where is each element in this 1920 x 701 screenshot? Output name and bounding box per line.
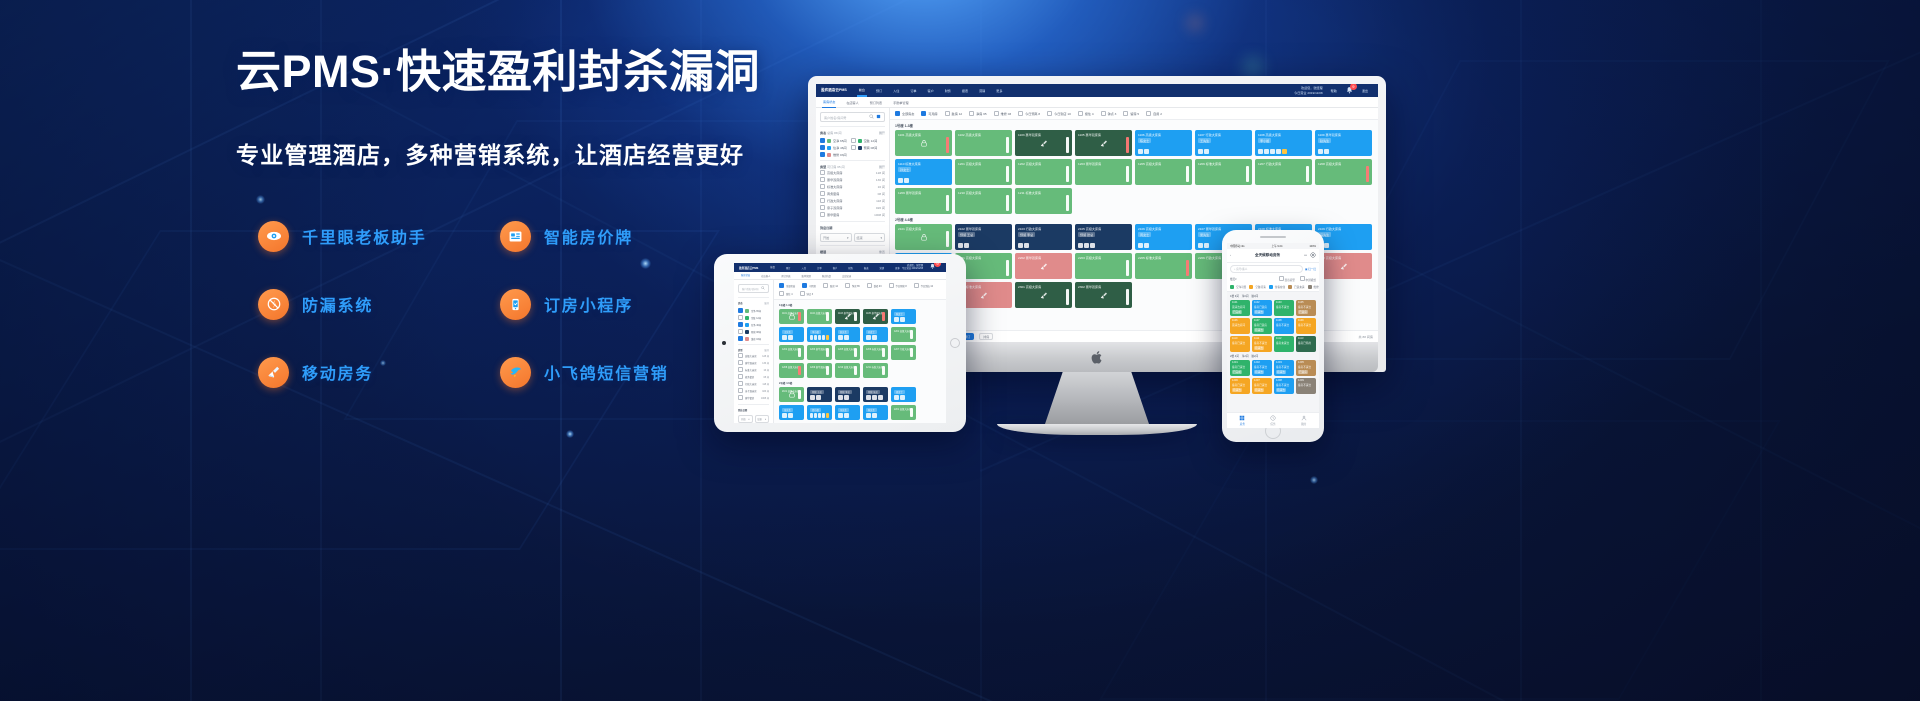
nav-item-reports[interactable]: 报表 (960, 85, 970, 96)
badge-icon (1258, 149, 1263, 154)
alert-badge-icon (826, 335, 829, 340)
room-card[interactable]: 1108 高级大床房李小姐 (807, 327, 832, 342)
nav-item-finance[interactable]: 财务 (943, 85, 953, 96)
checkbox[interactable] (945, 111, 950, 116)
list-item[interactable]: 高级大床房128 间 (820, 169, 885, 176)
room-number: 1109 (1298, 319, 1314, 322)
nav-item-customers[interactable]: 客户 (926, 85, 936, 96)
checkbox[interactable] (800, 291, 805, 296)
feature-item-eye[interactable]: 千里眼老板助手 (258, 221, 500, 252)
room-card[interactable]: 1105客房不清洁已退房 (1296, 300, 1316, 316)
room-number: 1203 (1276, 361, 1292, 364)
color-swatch (1230, 285, 1234, 289)
checkbox[interactable] (969, 111, 974, 116)
tab-housekeeping[interactable]: 房务 (1227, 413, 1258, 428)
page-title: 全天候移动房务 (1234, 253, 1301, 258)
badge-icon (822, 413, 825, 418)
room-card[interactable]: 1101 高级大床房 (895, 130, 952, 156)
room-card[interactable]: 1101需清洁房间已完成 (1230, 300, 1250, 316)
room-badges (782, 335, 801, 340)
occupancy-bar (826, 312, 829, 321)
room-card[interactable]: 1111客房不清洁待清洁 (1252, 336, 1272, 352)
checkbox[interactable] (1123, 111, 1128, 116)
room-card[interactable]: 1209客房不清洁 (1296, 378, 1316, 394)
room-card[interactable]: 2101 高级大床房 (779, 387, 804, 402)
room-card[interactable]: 1109 豪华双床房赵先生 (835, 327, 860, 342)
room-card[interactable]: 2106 高级大床房周女士 (891, 387, 916, 402)
checkbox[interactable] (820, 170, 825, 175)
feature-item-price-board[interactable]: 智能房价牌 (500, 221, 633, 252)
room-groups: 1楼 3间净0间脏3间1101需清洁房间已完成1102客房已退房待清洁1103客… (1227, 292, 1319, 394)
filter-chip[interactable]: 今日预离 8 (1018, 111, 1040, 116)
ellipsis-icon[interactable]: ••• (1304, 254, 1307, 257)
nav-item-checkin[interactable]: 入住 (891, 85, 901, 96)
room-card[interactable]: 1205 高级大床房 (1135, 159, 1192, 185)
room-card[interactable]: 1107 行政大床房王先生 (779, 327, 804, 342)
date-to-input[interactable]: 结束▾ (854, 233, 886, 242)
badge-icon (844, 395, 849, 400)
room-card[interactable]: 1211 标准大床房 (1015, 188, 1072, 214)
badge-icon (1090, 243, 1095, 248)
broom-icon (1099, 291, 1108, 301)
room-card[interactable]: 2205 标准大床房 (1135, 253, 1192, 279)
filter-chip[interactable]: 今日到店 10 (1047, 111, 1071, 116)
date-to-input[interactable]: 结束▾ (755, 415, 770, 423)
feature-item-mobile-booking[interactable]: 订房小程序 (500, 289, 633, 320)
clock-label: 上午 9:24 (1271, 244, 1282, 248)
room-number: 2106 高级大床房 (1138, 226, 1189, 231)
checkbox[interactable] (1018, 111, 1023, 116)
tab-tasks[interactable]: 任务 (1258, 413, 1289, 428)
user-info[interactable]: 欢迎您，张经理 今日营业 2019/11/08 (902, 265, 923, 271)
pms-nav-right: 欢迎您，张经理 今日营业 2019/11/08 9 (902, 263, 941, 272)
footer-status: 共 88 间房 (1359, 334, 1373, 339)
room-card[interactable]: 2102 豪华双床房预留 王总 (807, 387, 832, 402)
badge-icon (866, 413, 871, 418)
occupancy-bar (1126, 137, 1129, 153)
room-card[interactable]: 1108客房不清洁 (1274, 318, 1294, 334)
room-number: 1210 高级大床房 (958, 190, 1009, 195)
room-card[interactable]: 1202客房不清洁待清洁 (1252, 360, 1272, 376)
room-card[interactable]: 2105 高级大床房预留 张总 (1075, 224, 1132, 250)
room-tag: 待清洁 (1232, 388, 1242, 392)
filter-chip[interactable]: 钟点 3 (800, 291, 814, 296)
room-card[interactable]: 2107 豪华双床房吴先生 (779, 405, 804, 420)
filter-chip[interactable]: 全部房态 (895, 111, 914, 116)
badge-icon (1078, 243, 1083, 248)
room-card[interactable]: 1201客房已清洁已完成 (1230, 360, 1250, 376)
badge-icon (810, 395, 815, 400)
room-card[interactable]: 1209 豪华双床房 (807, 363, 832, 378)
room-card[interactable]: 2203 高级大床房 (1075, 253, 1132, 279)
room-card[interactable]: 1112客房未清洁 (1274, 336, 1294, 352)
filter-chip[interactable]: 今日到店 10 (914, 283, 933, 288)
room-number: 2105 高级大床房 (1078, 226, 1129, 231)
badge-icon (818, 335, 821, 340)
bell-icon[interactable]: 9 (929, 263, 938, 272)
mobile-booking-icon (500, 289, 531, 320)
room-number: 1202 高级大床房 (1018, 161, 1069, 166)
mobile-housekeeping-app: 中国移动 4G 上午 9:24 100% ‹ 全天候移动房务 ••• (1227, 243, 1319, 428)
scan-button[interactable]: ▣ 扫一扫 (1305, 267, 1316, 271)
guest-name: 孙女士 (866, 330, 885, 334)
filter-chip[interactable]: 今日预离 8 (889, 283, 907, 288)
room-card[interactable]: 2201 高级大床房 (891, 405, 916, 420)
legend-label: 住客在住 (1275, 285, 1285, 289)
checkbox[interactable] (820, 177, 825, 182)
filter-label: 续住 4 (1085, 111, 1094, 116)
checkbox[interactable] (1047, 111, 1052, 116)
room-status-text: 客房不清洁 (1276, 323, 1292, 327)
bell-icon[interactable]: 9 (1345, 86, 1354, 95)
feature-row: 移动房务 小飞鸽短信营销 (258, 338, 778, 406)
legend-label: 空净可售 (1236, 285, 1246, 289)
room-card[interactable]: 2105 高级大床房预留 张总 (863, 387, 888, 402)
filter-label: 今日到店 10 (921, 284, 933, 288)
pms-main-menu: 前台 预订 入住 订单 客户 财务 报表 营销 更多 (857, 84, 1005, 97)
assign-room-button[interactable]: 排房 (979, 333, 993, 340)
room-card[interactable]: 1102 高级大床房 (807, 309, 832, 324)
filter-chip[interactable]: 全部房态 (779, 283, 795, 288)
filter-chip[interactable]: 维修 03 (867, 283, 882, 288)
tab[interactable]: 客史档案 (821, 271, 832, 281)
room-card[interactable]: 1101 高级大床房 (779, 309, 804, 324)
room-card[interactable]: 1110 标准大床房孙女士 (895, 159, 952, 185)
tab[interactable]: 预订列表 (780, 271, 791, 281)
broom-icon (843, 312, 852, 322)
badge-icon (1204, 243, 1209, 248)
room-badges (810, 413, 829, 418)
pms-sub-tabs: 客房状态 在店客人 预订列表 手账单管理 (816, 97, 1378, 108)
guest-name: 赵先生 (838, 330, 857, 334)
occupancy-bar (1066, 195, 1069, 211)
room-card[interactable]: 1102 高级大床房 (955, 130, 1012, 156)
room-badges (1198, 149, 1249, 154)
status-more-button[interactable]: 展开 (879, 130, 885, 135)
chevron-left-icon[interactable]: ‹ (1230, 254, 1231, 257)
roomtype-label: 豪华套房 (827, 212, 839, 217)
anti-leak-icon (258, 289, 289, 320)
checkbox[interactable] (867, 283, 872, 288)
room-card[interactable]: 1207 行政大床房 (891, 345, 916, 360)
room-card[interactable]: 1113客房已停用 (1296, 336, 1316, 352)
checkbox[interactable] (889, 283, 894, 288)
filter-chip[interactable]: 钟点 3 (1101, 111, 1117, 116)
room-card[interactable]: 1201 高级大床房 (891, 327, 916, 342)
room-card[interactable]: 2302 豪华双床房 (1075, 282, 1132, 308)
checkbox[interactable] (1101, 111, 1106, 116)
feature-item-housekeeping[interactable]: 移动房务 (258, 357, 500, 388)
filter-chip[interactable]: 自用 2 (1146, 111, 1162, 116)
nav-item-more[interactable]: 更多 (994, 85, 1004, 96)
room-card[interactable]: 1106 高级大床房陈女士 (1135, 130, 1192, 156)
checkbox[interactable] (1078, 111, 1083, 116)
pms-nav-right: 欢迎您，张经理 今日营业 2019/11/08 帮助 9 退出 (1294, 85, 1373, 96)
room-card[interactable]: 1203 豪华双床房 (1075, 159, 1132, 185)
ipad-home-button[interactable] (950, 338, 960, 348)
legend-label: 维修停用 (1314, 285, 1320, 289)
room-status-text: 客房不清洁 (1298, 305, 1314, 309)
checkbox[interactable] (994, 111, 999, 116)
badge-icon (1324, 149, 1329, 154)
room-card[interactable]: 1203客房不清洁待清洁 (1274, 360, 1294, 376)
room-number: 1207 (1254, 379, 1270, 382)
room-card[interactable]: 2108 标准大床房郑小姐 (807, 405, 832, 420)
chevron-down-icon: ▾ (765, 418, 766, 421)
room-card[interactable]: 1109客房不清洁 (1296, 318, 1316, 334)
lock-icon (788, 391, 796, 400)
room-grid: 1201客房已清洁已完成1202客房不清洁待清洁1203客房不清洁待清洁1205… (1227, 360, 1319, 394)
user-greeting: 欢迎您，张经理 (907, 265, 923, 267)
room-card[interactable]: 1205 高级大床房 (835, 345, 860, 360)
roomtype-more-button[interactable]: 展开 (879, 164, 885, 169)
room-groups: 1号楼 1-3楼1101 高级大床房1102 高级大床房1103 豪华双床房11… (774, 300, 946, 423)
badge-icon (782, 413, 787, 418)
nav-item-orders[interactable]: 订单 (908, 85, 918, 96)
checkbox[interactable] (779, 291, 784, 296)
list-item[interactable]: 亲子双床房026 间 (820, 204, 885, 211)
room-card[interactable]: 1110 标准大床房孙女士 (863, 327, 888, 342)
room-card[interactable]: 1210 高级大床房 (835, 363, 860, 378)
room-status-text: 客房不清洁 (1254, 365, 1270, 369)
room-card[interactable]: 1105 豪华双床房 (863, 309, 888, 324)
checkbox[interactable] (823, 283, 828, 288)
room-status-text: 客房已清洁 (1232, 365, 1248, 369)
checkbox[interactable] (820, 191, 825, 196)
feature-item-sms[interactable]: 小飞鸽短信营销 (500, 357, 669, 388)
filter-icon[interactable] (876, 114, 881, 120)
user-info[interactable]: 欢迎您，张经理 今日营业 2019/11/08 (1294, 86, 1323, 94)
room-tag: 已完成 (1232, 370, 1242, 374)
alert-badge-icon (826, 413, 829, 418)
pms-main-panel: 全部房态可用房脏房 12净房 65维修 03今日预离 8今日到店 10续住 4钟… (774, 280, 946, 423)
badge-icon (898, 178, 903, 183)
room-card[interactable]: 1109 豪华双床房赵先生 (1315, 130, 1372, 156)
badge-icon (866, 335, 871, 340)
room-status-text: 客房已清洁 (1232, 341, 1248, 345)
tab-bill-manage[interactable]: 手账单管理 (892, 97, 909, 108)
badge-icon (814, 413, 817, 418)
roomtype-count: 118 间 (876, 198, 885, 203)
date-range: 开始▾ 结束▾ (820, 233, 885, 242)
room-card[interactable]: 2301 高级大床房 (1015, 282, 1072, 308)
room-card[interactable]: 1106需清洁房间 (1230, 318, 1250, 334)
room-card[interactable]: 1205客房不清洁已退房 (1296, 360, 1316, 376)
filter-label: 净房 65 (852, 284, 860, 288)
gear-icon[interactable] (1310, 252, 1316, 259)
room-card[interactable]: 1102客房已退房待清洁 (1252, 300, 1272, 316)
checkbox[interactable] (779, 283, 784, 288)
filter-chip[interactable]: 可用房 (921, 111, 937, 116)
floor-filter[interactable]: 楼层▾ (1230, 277, 1237, 281)
room-card[interactable]: 2106 高级大床房周女士 (1135, 224, 1192, 250)
roomtype-label: 行政大床房 (827, 198, 842, 203)
broom-icon (1039, 291, 1048, 301)
guest-name: 冯先生 (838, 408, 857, 412)
room-card[interactable]: 1106 高级大床房陈女士 (891, 309, 916, 324)
show-roomtype-toggle[interactable]: 显示房型 (1279, 276, 1295, 282)
room-number: 1209 豪华双床房 (898, 190, 949, 195)
badge-icon (788, 335, 793, 340)
room-grid: 2101 高级大床房2102 豪华双床房预留 王总2103 行政大床房预留 李总… (774, 387, 946, 423)
feature-row: 防漏系统 订房小程序 (258, 270, 778, 338)
checkbox[interactable] (914, 283, 919, 288)
room-card[interactable]: 1208 高级大床房 (1315, 159, 1372, 185)
room-card[interactable]: 2103 行政大床房预留 李总 (835, 387, 860, 402)
room-number: 1102 高级大床房 (958, 132, 1009, 137)
room-tag: 已退房 (1298, 370, 1308, 374)
room-card[interactable]: 2102 豪华双床房预留 王总 (955, 224, 1012, 250)
filter-chip[interactable]: 净房 65 (969, 111, 987, 116)
roomtype-count: 128 间 (876, 170, 885, 175)
tab[interactable]: 账单管理 (801, 271, 812, 281)
checkbox[interactable] (845, 283, 850, 288)
color-swatch (1288, 285, 1292, 289)
room-card[interactable]: 1110客房已清洁 (1230, 336, 1250, 352)
date-from-input[interactable]: 开始▾ (738, 415, 753, 423)
room-card[interactable]: 1108 高级大床房李小姐 (1255, 130, 1312, 156)
lock-icon (788, 313, 796, 322)
filter-label: 今日预离 8 (1025, 111, 1040, 116)
room-card[interactable]: 2103 行政大床房预留 李总 (1015, 224, 1072, 250)
checkbox[interactable] (895, 111, 900, 116)
room-badges (810, 335, 829, 340)
room-card[interactable]: 2110 高级大床房陈先生 (863, 405, 888, 420)
room-card[interactable]: 1206 标准大床房 (1195, 159, 1252, 185)
legend-label: 已退未清 (1294, 285, 1304, 289)
feature-label: 移动房务 (302, 360, 373, 384)
room-card[interactable]: 1105 豪华双床房 (1075, 130, 1132, 156)
room-badges (894, 317, 913, 322)
room-card[interactable]: 2202 豪华双床房 (1015, 253, 1072, 279)
room-card[interactable]: 1207客房已清洁待清洁 (1252, 378, 1272, 394)
filter-label: 可用房 (928, 111, 937, 116)
room-number: 1205 (1298, 361, 1314, 364)
occupancy-bar (1306, 166, 1309, 182)
broom-icon (979, 291, 988, 301)
list-item[interactable]: 商务套房08 间 (820, 190, 885, 197)
filter-chip[interactable]: 维修 03 (994, 111, 1012, 116)
clock-icon (1270, 415, 1276, 421)
room-card[interactable]: 1103 豪华双床房 (835, 309, 860, 324)
tab-profile[interactable]: 我的 (1288, 413, 1319, 428)
room-tag: 已完成 (1232, 310, 1242, 314)
checkbox[interactable] (802, 283, 807, 288)
roomtype-count: 16 间 (878, 184, 885, 189)
checkbox[interactable] (921, 111, 926, 116)
legend-label: 空脏待清 (1255, 285, 1265, 289)
search-input[interactable]: ⌕ 房号/客人 (1230, 265, 1303, 273)
room-group-title: 2楼 4间净2间脏2间 (1227, 352, 1319, 360)
room-card[interactable]: 1206客房已清洁待清洁 (1230, 378, 1250, 394)
occupancy-bar (1126, 289, 1129, 305)
filter-label: 全部房态 (902, 111, 914, 116)
filter-chip[interactable]: 脏房 12 (823, 283, 838, 288)
legend-item: 维修停用 (1308, 285, 1320, 289)
badge-icon (1318, 149, 1323, 154)
room-card[interactable]: 1208客房不清洁待清洁 (1274, 378, 1294, 394)
room-badges (838, 413, 857, 418)
room-card[interactable]: 2101 高级大床房 (895, 224, 952, 250)
broom-icon (1039, 139, 1048, 149)
room-card[interactable]: 1210 高级大床房 (955, 188, 1012, 214)
list-item[interactable]: 豪华双床房136 间 (820, 176, 885, 183)
room-card[interactable]: 1103客房不清洁 (1274, 300, 1294, 316)
filter-label: 自用 2 (1153, 111, 1162, 116)
feature-item-anti-leak[interactable]: 防漏系统 (258, 289, 500, 320)
color-swatch (1249, 285, 1253, 289)
chevron-down-icon: ▾ (847, 236, 849, 240)
nav-item-marketing[interactable]: 营销 (977, 85, 987, 96)
filter-chip[interactable]: 续住 4 (1078, 111, 1094, 116)
room-card[interactable]: 1103 豪华双床房 (1015, 130, 1072, 156)
room-card[interactable]: 1107客房已退房待清洁 (1252, 318, 1272, 334)
room-card[interactable]: 1107 行政大床房王先生 (1195, 130, 1252, 156)
checkbox[interactable] (820, 184, 825, 189)
room-card[interactable]: 1206 标准大床房 (863, 345, 888, 360)
guest-name: 陈女士 (894, 312, 913, 316)
room-card[interactable]: 1202 高级大床房 (1015, 159, 1072, 185)
filter-chip[interactable]: 脏房 12 (945, 111, 963, 116)
room-card[interactable]: 2109 行政大床房冯先生 (835, 405, 860, 420)
hero-copy: 云PMS·快速盈利封杀漏洞 专业管理酒店，多种营销系统，让酒店经营更好 (236, 46, 876, 170)
filter-chip[interactable]: 留房 5 (1123, 111, 1139, 116)
room-card[interactable]: 1203 豪华双床房 (807, 345, 832, 360)
guest-name: 王先生 (782, 330, 801, 334)
room-status-text: 客房不清洁 (1298, 383, 1314, 387)
room-card[interactable]: 1209 豪华双床房 (895, 188, 952, 214)
feature-list: 千里眼老板助手 智能房价牌 防漏系统 订房小程序 (258, 202, 778, 406)
room-card[interactable]: 1211 标准大床房 (863, 363, 888, 378)
filter-chip[interactable]: 续住 4 (779, 291, 793, 296)
occupancy-bar (1006, 260, 1009, 276)
roomtype-count: 026 间 (876, 205, 885, 210)
logout-button[interactable]: 退出 (1360, 85, 1370, 96)
filter-chip[interactable]: 净房 65 (845, 283, 860, 288)
filter-chip[interactable]: 可用房 (802, 283, 816, 288)
list-item[interactable]: 豪华套房1008 间 (820, 211, 885, 218)
room-card[interactable]: 1201 高级大床房 (955, 159, 1012, 185)
feature-label: 智能房价牌 (544, 224, 633, 248)
list-item[interactable]: 行政大床房118 间 (820, 197, 885, 204)
tab[interactable]: 交班记录 (841, 271, 852, 281)
checkbox[interactable] (820, 205, 825, 210)
mid-screen-toggle[interactable]: 中屏模式 (1300, 276, 1316, 282)
date-from-input[interactable]: 开始▾ (820, 233, 852, 242)
badge-icon (1264, 149, 1269, 154)
room-card[interactable]: 1208 高级大床房 (779, 363, 804, 378)
checkbox[interactable] (1146, 111, 1151, 116)
room-number: 1101 (1232, 301, 1248, 304)
checkbox[interactable] (820, 212, 825, 217)
guest-name: 吴先生 (782, 408, 801, 412)
list-item[interactable]: 标准大床房16 间 (820, 183, 885, 190)
room-number: 1102 (1254, 301, 1270, 304)
badge-icon (872, 413, 877, 418)
room-card[interactable]: 1207 行政大床房 (1255, 159, 1312, 185)
broom-icon (871, 312, 880, 322)
room-card[interactable]: 1202 高级大床房 (779, 345, 804, 360)
checkbox[interactable] (820, 198, 825, 203)
room-number: 1107 (1254, 319, 1270, 322)
occupancy-bar (826, 366, 829, 375)
room-number: 1105 豪华双床房 (1078, 132, 1129, 137)
room-badges (1138, 149, 1189, 154)
search-row: ⌕ 房号/客人 ▣ 扫一扫 (1227, 263, 1319, 275)
roomtype-list: 高级大床房128 间 豪华双床房136 间 标准大床房16 间 商务套房08 间… (820, 169, 885, 218)
occupancy-bar (1066, 137, 1069, 153)
help-button[interactable]: 帮助 (1329, 85, 1339, 96)
